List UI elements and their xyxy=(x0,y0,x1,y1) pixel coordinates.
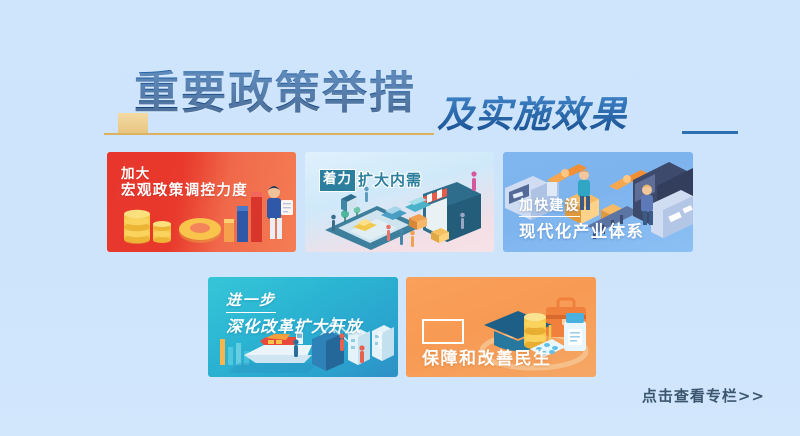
page-title: 重要政策举措 xyxy=(134,70,416,115)
card-deepen-reform[interactable]: 进一步 深化改革扩大开放 xyxy=(208,277,398,377)
bar-chart-icon xyxy=(224,192,262,242)
card-livelihood-line1: 着力 xyxy=(422,319,464,344)
card-industry-text: 加快建设 现代化产业体系 xyxy=(519,196,644,241)
water-surface xyxy=(228,363,318,373)
coin-stack-icon xyxy=(124,210,171,244)
card-reform-line1: 进一步 xyxy=(226,292,276,313)
card-industry-line1: 加快建设 xyxy=(519,198,580,217)
policy-highlights-page: { "page": { "background_color": "#cde4fb… xyxy=(0,0,800,436)
isometric-street-plate xyxy=(325,206,423,250)
card-livelihood-line2: 保障和改善民生 xyxy=(422,350,552,370)
title-blue-dash xyxy=(682,131,738,134)
card-macro-text: 加大 宏观政策调控力度 xyxy=(121,167,248,199)
card-macro-policy[interactable]: 加大 宏观政策调控力度 xyxy=(107,152,296,252)
medicine-bottle-icon xyxy=(564,313,586,351)
bar-chart-decor-icon xyxy=(220,339,249,365)
card-demand-line2: 扩大内需 xyxy=(358,171,422,189)
page-subtitle: 及实施效果 xyxy=(437,96,627,133)
card-macro-line1: 加大 xyxy=(121,167,248,183)
page-title-band: 重要政策举措 及实施效果 xyxy=(0,34,800,130)
card-livelihood-text: 着力 保障和改善民生 xyxy=(422,319,552,370)
card-demand-text: 着力扩大内需 xyxy=(319,169,422,192)
card-reform-line2: 深化改革扩大开放 xyxy=(226,318,362,337)
view-column-link[interactable]: 点击查看专栏>> xyxy=(642,385,765,406)
card-reform-text: 进一步 深化改革扩大开放 xyxy=(226,291,362,337)
card-improve-livelihood[interactable]: 着力 保障和改善民生 xyxy=(406,277,596,377)
expand-demand-illustration xyxy=(305,152,494,252)
card-expand-demand[interactable]: 着力扩大内需 xyxy=(305,152,494,252)
card-demand-line1: 着力 xyxy=(319,169,356,192)
card-macro-line2: 宏观政策调控力度 xyxy=(121,183,248,200)
title-gold-underline xyxy=(104,133,434,135)
person-figure-icon xyxy=(267,186,293,239)
card-industry-line2: 现代化产业体系 xyxy=(519,222,644,241)
card-modern-industry[interactable]: 加快建设 现代化产业体系 xyxy=(503,152,693,252)
donut-chart-icon xyxy=(179,218,221,243)
